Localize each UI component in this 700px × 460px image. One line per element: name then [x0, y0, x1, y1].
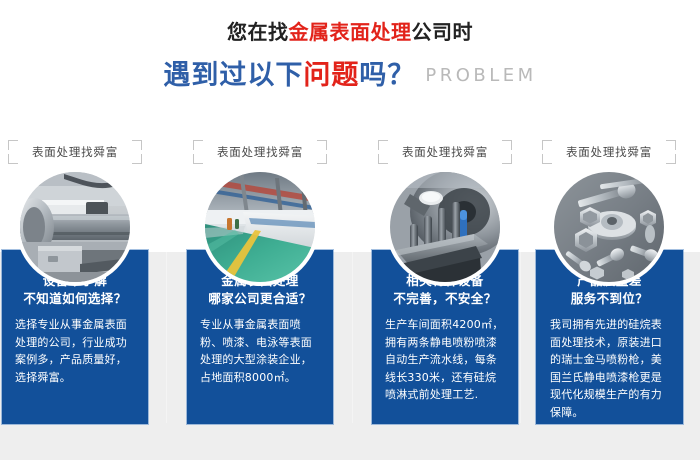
column-separator-1: [166, 252, 167, 423]
problem-card-2[interactable]: 表面处理找舜富 金属表面处理 哪家公司更合适？ 专业从事金属表面喷粉、喷漆、电泳…: [187, 140, 333, 424]
headline-line2: 遇到过以下问题吗？: [163, 60, 415, 91]
cnc-lathe-machining-photo: [20, 172, 130, 282]
card-body-text-2: 专业从事金属表面喷粉、喷漆、电泳等表面处理的大型涂装企业，占地面积8000㎡。: [200, 316, 321, 386]
column-separator-2: [352, 252, 353, 423]
column-separator-3: [520, 252, 521, 423]
headline-line1: 您在找金属表面处理公司时: [227, 20, 473, 44]
headline-line1-suffix: 公司时: [412, 20, 474, 44]
problem-card-3[interactable]: 表面处理找舜富 相关特种设备 不完善，不安全？ 生产车间面积4200㎡，拥有两条…: [372, 140, 518, 424]
headline-line2-accent: 问题: [303, 60, 359, 91]
card-tag-1: 表面处理找舜富: [8, 140, 142, 164]
headline-line1-prefix: 您在找: [227, 20, 289, 44]
card-heading-line2-4: 服务不到位？: [540, 290, 679, 308]
coating-workshop-production-line-photo: [205, 172, 315, 282]
problem-card-4[interactable]: 表面处理找舜富 产品质量差 服务不到位？ 我司拥有先进的硅烷表面处理技术，原装进…: [536, 140, 683, 424]
headline-line2-prefix: 遇到过以下: [163, 60, 303, 91]
page-headline-secondary: 遇到过以下问题吗？PROBLEM: [0, 62, 700, 89]
card-body-text-3: 生产车间面积4200㎡，拥有两条静电喷粉喷漆自动生产流水线，每条线长330米，还…: [385, 316, 506, 404]
page-headline-primary: 您在找金属表面处理公司时: [0, 22, 700, 42]
card-photo-frame-2: [201, 168, 319, 286]
headline-line1-accent: 金属表面处理: [289, 20, 412, 44]
card-tag-label-1: 表面处理找舜富: [8, 140, 142, 164]
headline-line2-suffix: 吗？: [359, 60, 415, 91]
bolts-nuts-fasteners-photo: [554, 172, 664, 282]
card-tag-label-4: 表面处理找舜富: [542, 140, 676, 164]
card-tag-4: 表面处理找舜富: [542, 140, 676, 164]
card-tag-label-3: 表面处理找舜富: [378, 140, 512, 164]
metal-tooling-fixture-photo: [390, 172, 500, 282]
card-photo-frame-4: [550, 168, 668, 286]
card-body-text-4: 我司拥有先进的硅烷表面处理技术，原装进口的瑞士金马喷粉枪，美国兰氏静电喷漆枪更是…: [550, 316, 671, 421]
problem-section-page: 您在找金属表面处理公司时 遇到过以下问题吗？PROBLEM 表面处理找舜富 设备…: [0, 0, 700, 460]
card-photo-frame-1: [16, 168, 134, 286]
card-tag-2: 表面处理找舜富: [193, 140, 327, 164]
card-tag-3: 表面处理找舜富: [378, 140, 512, 164]
card-body-text-1: 选择专业从事金属表面处理的公司，行业成功案例多，产品质量好，选择舜富。: [15, 316, 136, 386]
card-heading-line2-3: 不完善，不安全？: [376, 290, 514, 308]
card-tag-label-2: 表面处理找舜富: [193, 140, 327, 164]
card-heading-line2-1: 不知道如何选择？: [6, 290, 144, 308]
headline-english-subtitle: PROBLEM: [425, 65, 536, 86]
problem-card-1[interactable]: 表面处理找舜富 设备不了解 不知道如何选择？ 选择专业从事金属表面处理的公司，行…: [2, 140, 148, 424]
card-photo-frame-3: [386, 168, 504, 286]
card-heading-line2-2: 哪家公司更合适？: [191, 290, 329, 308]
